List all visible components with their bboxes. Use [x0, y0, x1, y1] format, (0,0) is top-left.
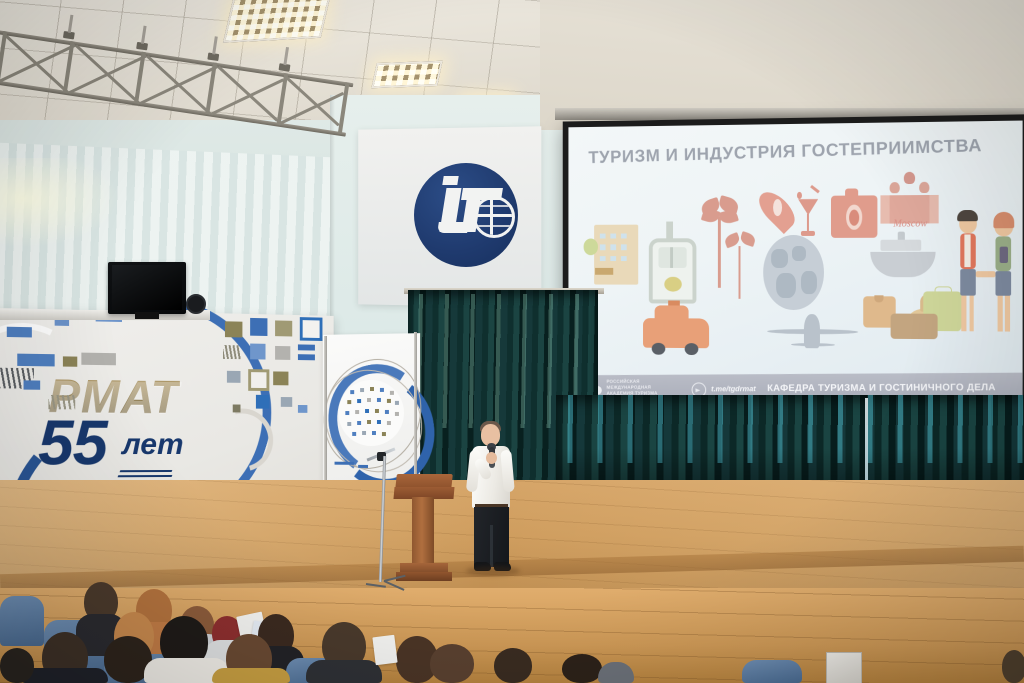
banner-square [227, 371, 241, 383]
slide-heading: ТУРИЗМ И ИНДУСТРИЯ ГОСТЕПРИИМСТВА [588, 134, 1006, 168]
location-pin-dot [773, 199, 782, 216]
louvered-light-panel [223, 0, 331, 43]
louvered-light-panel [371, 61, 442, 89]
globe-icon [763, 235, 824, 310]
lectern-column [412, 497, 434, 567]
banner-square-hatched [48, 395, 75, 409]
banner-anniversary-number: 55 [38, 407, 107, 480]
audience-body [212, 668, 290, 683]
banner-square [233, 404, 241, 412]
seat [0, 596, 44, 646]
banner-square [225, 321, 242, 337]
audience-head [0, 648, 34, 683]
banner-square [275, 320, 292, 336]
cocktail-icon [797, 190, 820, 237]
banner-square [281, 397, 292, 407]
projected-slide: ТУРИЗМ И ИНДУСТРИЯ ГОСТЕПРИИМСТВА [568, 121, 1022, 406]
audience-head [1002, 650, 1024, 683]
banner-square [300, 317, 323, 341]
audience-body [598, 662, 634, 683]
handout-paper[interactable] [372, 635, 397, 665]
banner-square-hatched [223, 345, 240, 359]
speaker-leg-gap [490, 525, 493, 567]
department-label: КАФЕДРА ТУРИЗМА И ГОСТИНИЧНОГО ДЕЛА [767, 382, 996, 394]
conference-hall-photo: ТУРИЗМ И ИНДУСТРИЯ ГОСТЕПРИИМСТВА [0, 0, 1024, 683]
audience-head [494, 648, 532, 683]
tourist-couple-icon [956, 206, 1018, 343]
banner-square [250, 318, 267, 336]
banner-square [250, 344, 265, 360]
rollup-dash [335, 462, 355, 465]
rollup-globe-motif [338, 380, 404, 446]
audience-body [22, 668, 108, 683]
hotel-building-icon [594, 225, 638, 285]
banner-square [248, 369, 269, 391]
audience-head [430, 644, 474, 683]
tram-icon [649, 238, 697, 304]
logo-globe-icon [473, 196, 515, 238]
truss-brace [211, 78, 284, 115]
projection-screen: ТУРИЗМ И ИНДУСТРИЯ ГОСТЕПРИИМСТВА [563, 114, 1024, 411]
banner-square [275, 346, 290, 360]
banner-square [24, 380, 41, 389]
monitor-screen [112, 265, 182, 310]
hotel-bush-icon [583, 238, 598, 254]
rollup-dash [358, 465, 368, 468]
banner-underline [120, 470, 173, 472]
suitcase-icon [891, 314, 938, 340]
speaker-floor-shadow [466, 566, 520, 576]
cruise-ship-icon [870, 252, 935, 277]
st-basils-cathedral-icon [882, 167, 938, 224]
seat [742, 660, 802, 683]
palm-tree-icon [725, 230, 756, 299]
banner-square [63, 356, 77, 366]
audience-body [306, 660, 382, 683]
speaker-hand [486, 452, 497, 464]
floor-speaker-box [826, 652, 862, 683]
camera-icon [831, 196, 877, 238]
airplane-icon [767, 313, 858, 350]
moscow-label: Moscow [893, 218, 927, 229]
audience-head [562, 654, 602, 683]
monitor-stand [135, 312, 159, 319]
banner-square [7, 327, 32, 338]
taxi-car-icon [643, 318, 709, 349]
banner-square [273, 371, 288, 385]
tram-pole-icon [666, 222, 673, 241]
banner-underline [118, 475, 173, 477]
banner-square [81, 353, 116, 366]
banner-square [17, 354, 54, 367]
banner-square [298, 354, 315, 360]
banner-square [298, 405, 307, 413]
projector-lens [186, 294, 206, 314]
telegram-handle: t.me/tgdrmat [711, 384, 756, 393]
banner-square [256, 395, 269, 409]
banner-square [298, 344, 315, 350]
hotel-sign [595, 268, 612, 275]
banner-anniversary-word: лет [122, 428, 183, 462]
logo-letter-i-dot [442, 176, 458, 185]
